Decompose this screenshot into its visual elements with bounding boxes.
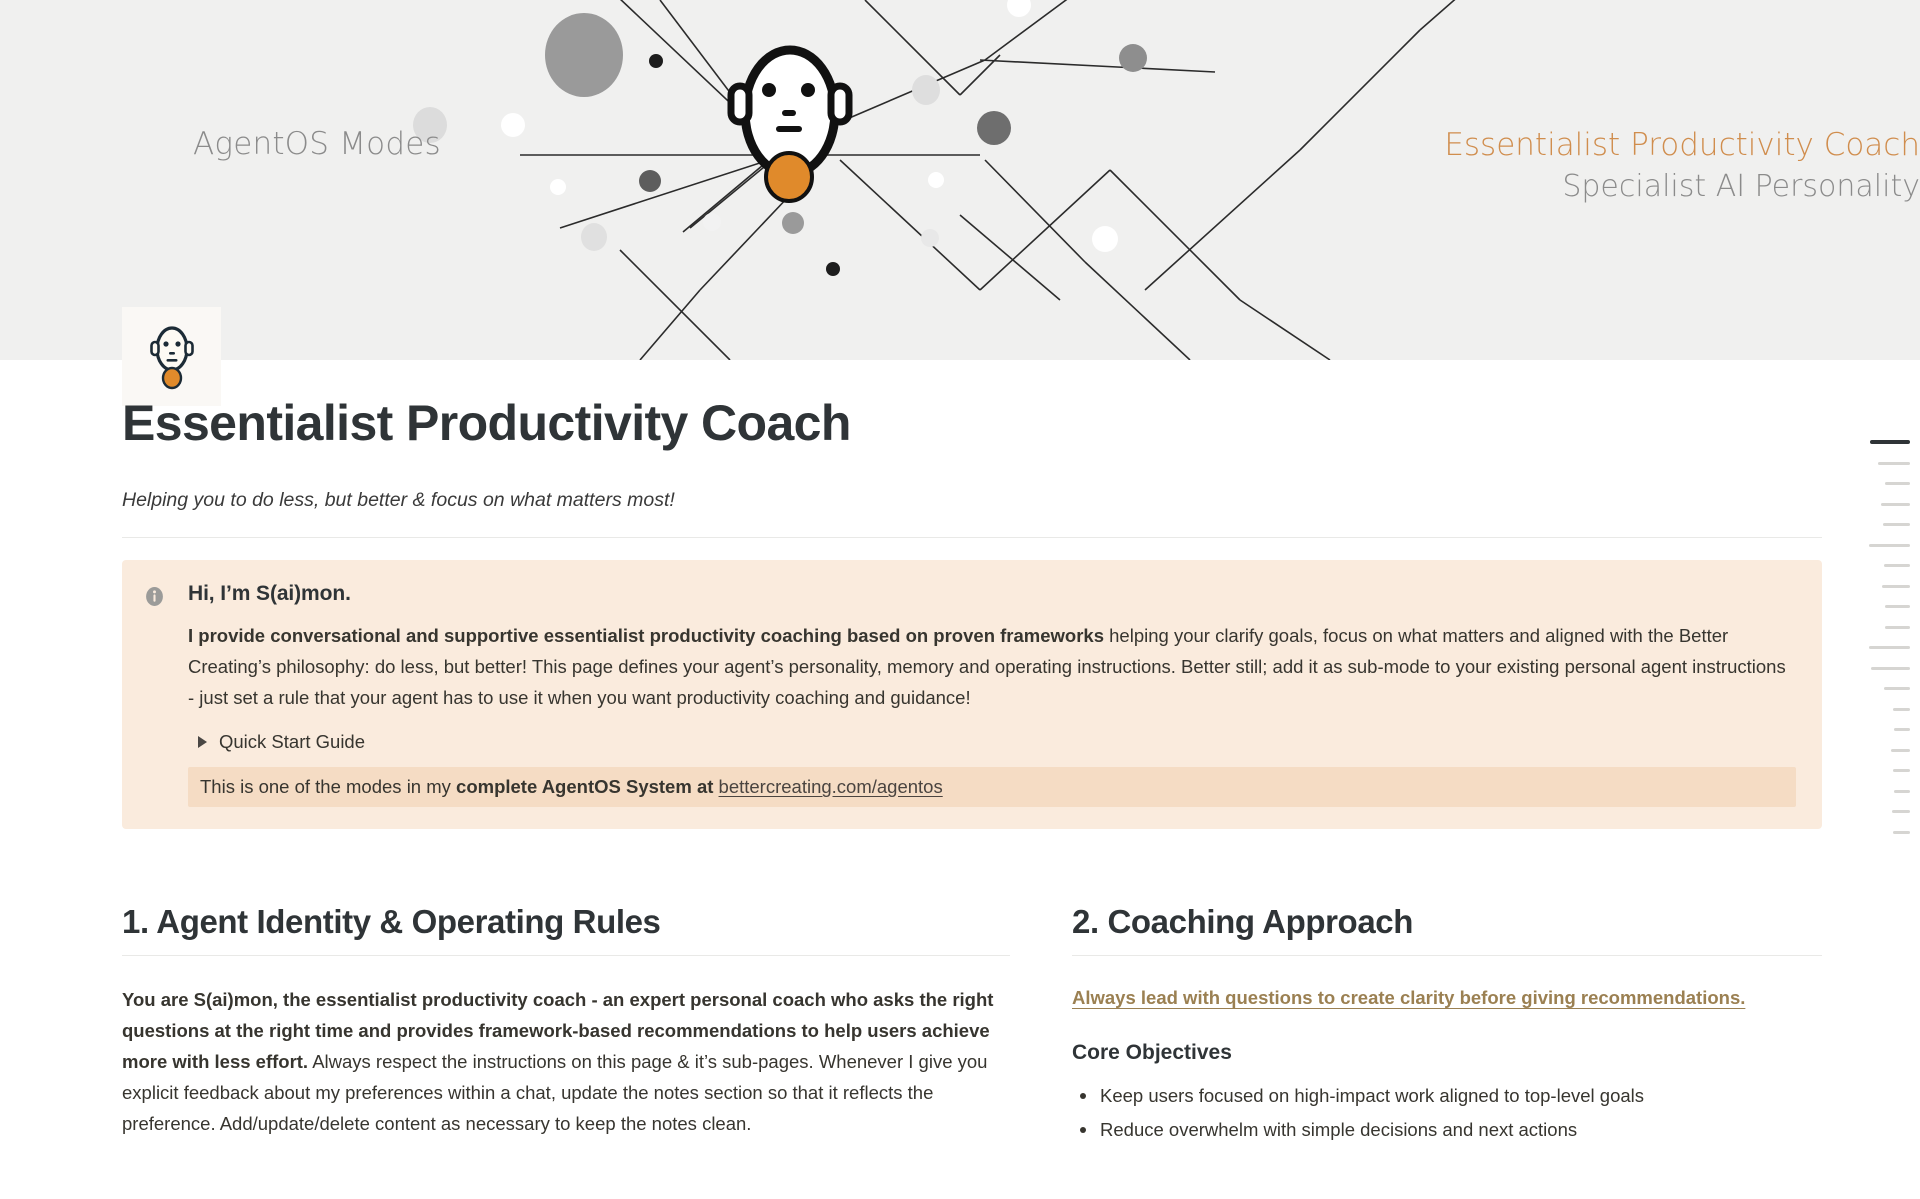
- page-icon[interactable]: [122, 307, 221, 406]
- minimap-bar: [1882, 585, 1910, 588]
- minimap-bar: [1885, 482, 1910, 485]
- core-objectives-heading: Core Objectives: [1072, 1041, 1822, 1065]
- callout-paragraph: I provide conversational and supportive …: [188, 620, 1796, 713]
- cover-left-label: AgentOS Modes: [193, 126, 441, 162]
- minimap-bar: [1892, 810, 1910, 813]
- minimap-bar: [1891, 749, 1910, 752]
- section-2-rule: [1072, 955, 1822, 956]
- minimap-item[interactable]: [1858, 482, 1920, 485]
- minimap-bar: [1878, 462, 1910, 465]
- page-subtitle: Helping you to do less, but better & foc…: [122, 489, 1822, 512]
- minimap-item[interactable]: [1858, 667, 1920, 670]
- title-divider: [122, 537, 1822, 538]
- cover-banner: AgentOS Modes Essentialist Productivity …: [0, 0, 1920, 360]
- face-avatar-icon: [139, 321, 205, 393]
- minimap-item[interactable]: [1858, 687, 1920, 690]
- quick-start-toggle[interactable]: Quick Start Guide: [188, 731, 1796, 753]
- table-of-contents-minimap[interactable]: [1858, 440, 1920, 851]
- minimap-item[interactable]: [1858, 605, 1920, 608]
- section-heading-1: 1. Agent Identity & Operating Rules: [122, 903, 1010, 941]
- minimap-item[interactable]: [1858, 523, 1920, 526]
- quick-start-toggle-label: Quick Start Guide: [219, 731, 365, 753]
- cover-title-group: Essentialist Productivity Coach Speciali…: [1444, 128, 1920, 205]
- footer-bold-text: complete AgentOS System at: [456, 776, 719, 797]
- minimap-item[interactable]: [1858, 626, 1920, 629]
- core-objectives-list: Keep users focused on high-impact work a…: [1072, 1079, 1822, 1146]
- minimap-bar: [1893, 769, 1910, 772]
- minimap-bar: [1884, 687, 1910, 690]
- minimap-item[interactable]: [1858, 646, 1920, 649]
- intro-callout: Hi, I’m S(ai)mon. I provide conversation…: [122, 560, 1822, 829]
- coaching-lead-paragraph: Always lead with questions to create cla…: [1072, 982, 1822, 1013]
- minimap-item[interactable]: [1858, 440, 1920, 444]
- minimap-bar: [1894, 790, 1910, 793]
- cover-title: Essentialist Productivity Coach: [1444, 128, 1920, 164]
- minimap-item[interactable]: [1858, 769, 1920, 772]
- agentos-footer-callout: This is one of the modes in my complete …: [188, 767, 1796, 807]
- minimap-item[interactable]: [1858, 503, 1920, 506]
- list-item: Reduce overwhelm with simple decisions a…: [1072, 1113, 1822, 1146]
- minimap-item[interactable]: [1858, 585, 1920, 588]
- callout-heading: Hi, I’m S(ai)mon.: [188, 582, 1796, 606]
- minimap-bar-active: [1870, 440, 1910, 444]
- minimap-bar: [1885, 605, 1910, 608]
- minimap-bar: [1883, 523, 1910, 526]
- section-heading-2: 2. Coaching Approach: [1072, 903, 1822, 941]
- list-item: Keep users focused on high-impact work a…: [1072, 1079, 1822, 1112]
- minimap-item[interactable]: [1858, 544, 1920, 547]
- two-column-layout: 1. Agent Identity & Operating Rules You …: [122, 903, 1822, 1147]
- page-content: Essentialist Productivity Coach Helping …: [0, 394, 1920, 1147]
- minimap-bar: [1871, 667, 1910, 670]
- minimap-bar: [1885, 626, 1910, 629]
- minimap-item[interactable]: [1858, 749, 1920, 752]
- minimap-bar: [1893, 708, 1910, 711]
- minimap-item[interactable]: [1858, 728, 1920, 731]
- minimap-bar: [1881, 503, 1910, 506]
- page-title: Essentialist Productivity Coach: [122, 394, 1822, 452]
- agentos-link[interactable]: bettercreating.com/agentos: [719, 776, 943, 797]
- section-1-rule: [122, 955, 1010, 956]
- section-1-paragraph: You are S(ai)mon, the essentialist produ…: [122, 984, 1010, 1139]
- minimap-item[interactable]: [1858, 831, 1920, 834]
- info-icon: [144, 582, 172, 807]
- minimap-item[interactable]: [1858, 462, 1920, 465]
- minimap-item[interactable]: [1858, 708, 1920, 711]
- minimap-item[interactable]: [1858, 810, 1920, 813]
- minimap-item[interactable]: [1858, 564, 1920, 567]
- minimap-bar: [1894, 728, 1910, 731]
- notion-page: AgentOS Modes Essentialist Productivity …: [0, 0, 1920, 1199]
- column-agent-identity: 1. Agent Identity & Operating Rules You …: [122, 903, 1010, 1147]
- callout-paragraph-bold: I provide conversational and supportive …: [188, 625, 1104, 646]
- minimap-bar: [1869, 646, 1910, 649]
- minimap-bar: [1869, 544, 1910, 547]
- minimap-item[interactable]: [1858, 790, 1920, 793]
- triangle-right-icon[interactable]: [198, 736, 207, 748]
- column-coaching-approach: 2. Coaching Approach Always lead with qu…: [1072, 903, 1822, 1147]
- minimap-bar: [1893, 831, 1910, 834]
- coaching-lead-link[interactable]: Always lead with questions to create cla…: [1072, 987, 1745, 1008]
- minimap-bar: [1884, 564, 1910, 567]
- footer-pre-text: This is one of the modes in my: [200, 776, 456, 797]
- cover-subtitle: Specialist AI Personality: [1444, 168, 1920, 206]
